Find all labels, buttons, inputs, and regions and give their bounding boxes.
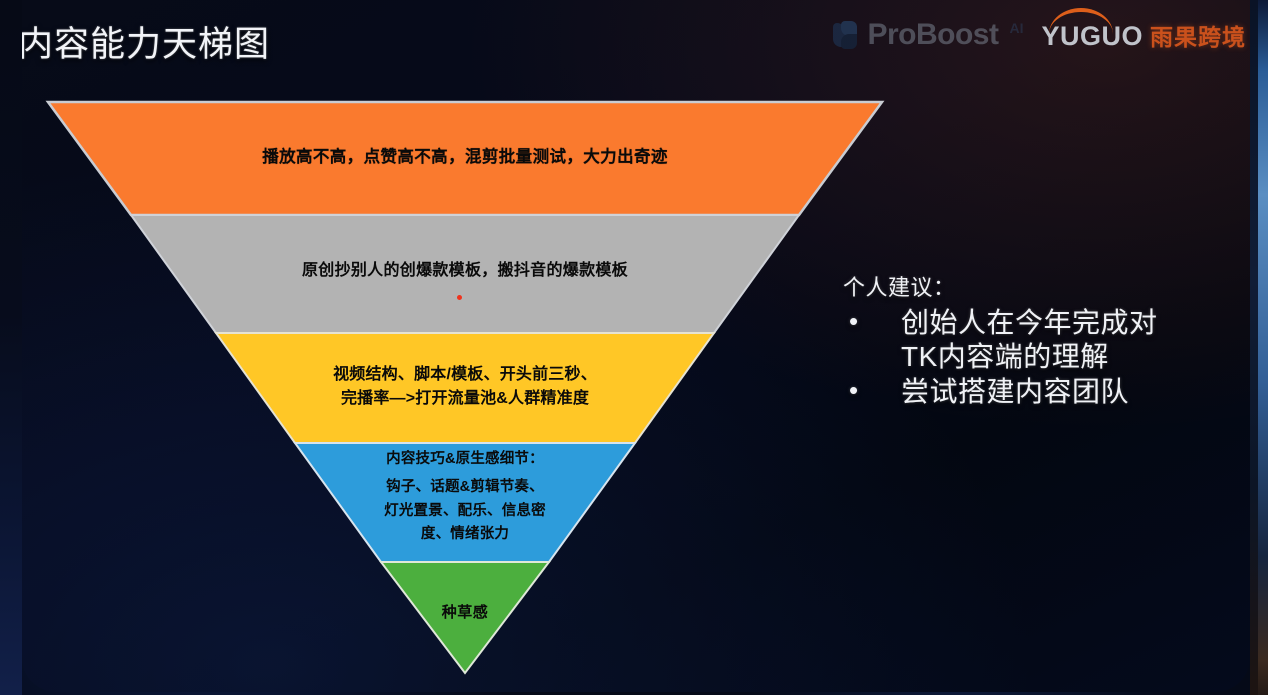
proboost-mark-icon <box>833 21 858 49</box>
pyramid-svg <box>46 100 884 675</box>
advice-item-2: • 尝试搭建内容团队 <box>843 375 1253 409</box>
inverted-pyramid-diagram: 播放高不高，点赞高不高，混剪批量测试，大力出奇迹 原创抄别人的创爆款模板，搬抖音… <box>46 100 884 675</box>
page-title: 内容能力天梯图 <box>18 16 270 67</box>
advice-bullet-icon-2: • <box>843 375 901 406</box>
advice-item-2-text: 尝试搭建内容团队 <box>901 375 1129 409</box>
advice-item-1: • 创始人在今年完成对 TK内容端的理解 <box>843 306 1253 373</box>
screen-edge-right-inner <box>1250 0 1258 695</box>
yuguo-chinese-wordmark: 雨果跨境 <box>1150 18 1246 52</box>
pyramid-band-green <box>381 562 549 673</box>
pyramid-band-yellow <box>216 333 714 443</box>
pyramid-band-blue <box>295 443 635 562</box>
red-dot-marker <box>457 295 462 300</box>
advice-heading: 个人建议： <box>843 270 1253 302</box>
advice-item-2-line-1: 尝试搭建内容团队 <box>901 375 1129 409</box>
yuguo-logo: YUGUO 雨果跨境 <box>1041 18 1246 52</box>
advice-item-1-text: 创始人在今年完成对 TK内容端的理解 <box>901 306 1158 373</box>
proboost-wordmark: ProBoost <box>867 18 998 52</box>
advice-item-1-line-2: TK内容端的理解 <box>901 340 1158 374</box>
advice-panel: 个人建议： • 创始人在今年完成对 TK内容端的理解 • 尝试搭建内容团队 <box>843 270 1253 409</box>
pyramid-band-orange <box>48 102 882 215</box>
logo-bar: ProBoost AI YUGUO 雨果跨境 <box>833 18 1246 52</box>
proboost-logo: ProBoost AI <box>833 18 1023 52</box>
advice-bullet-icon-1: • <box>843 306 901 337</box>
screen-edge-right <box>1258 0 1268 695</box>
slide-capture: 内容能力天梯图 ProBoost AI YUGUO 雨果跨境 <box>0 0 1268 695</box>
advice-item-1-line-1: 创始人在今年完成对 <box>901 306 1158 340</box>
pyramid-band-gray <box>131 215 799 333</box>
proboost-ai-superscript: AI <box>1009 20 1023 36</box>
screen-edge-left <box>0 0 22 695</box>
